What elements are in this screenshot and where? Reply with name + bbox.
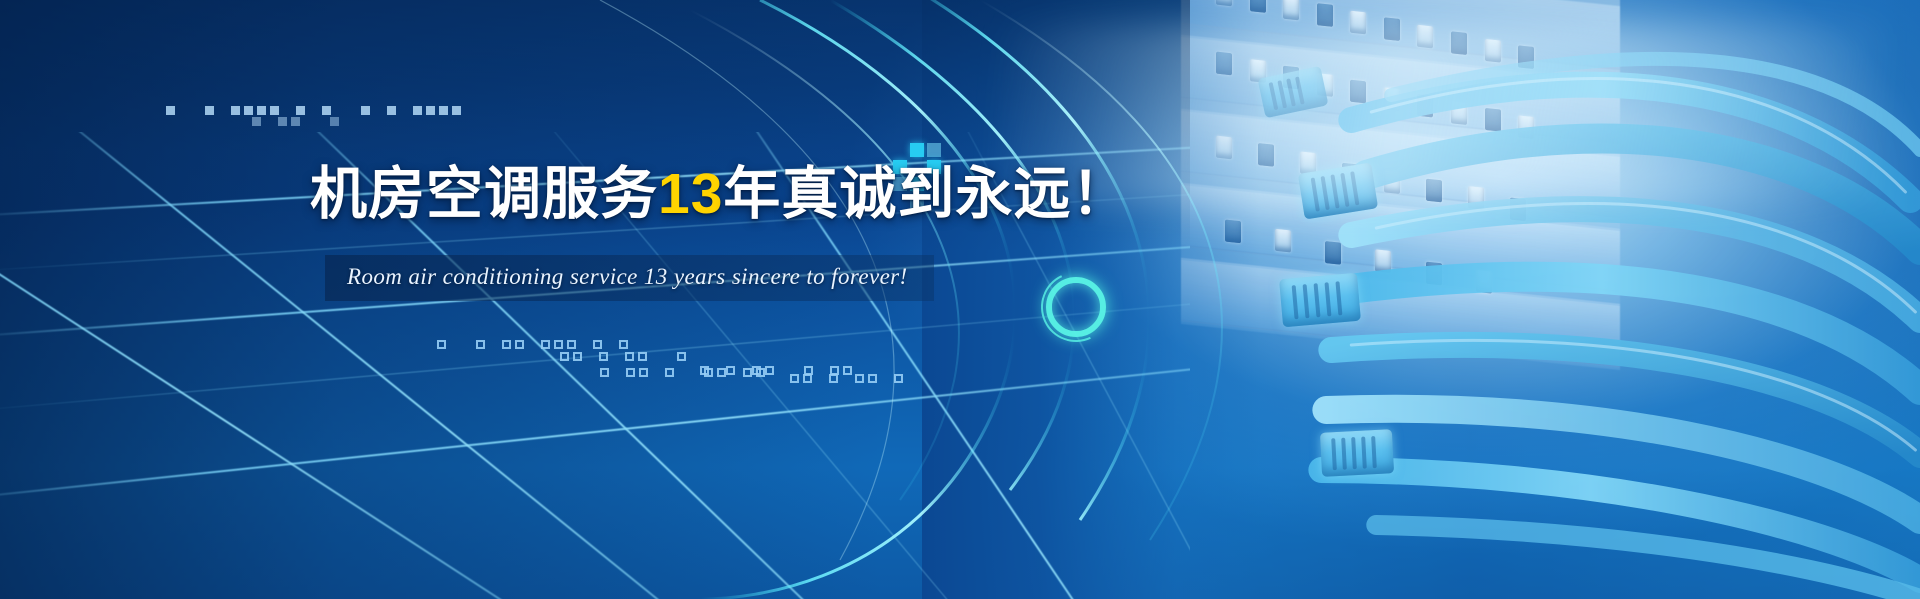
headline-suffix: 年真诚到永远！	[723, 162, 1129, 226]
banner-copy: 机房空调服务13年真诚到永远！ Room air conditioning se…	[0, 0, 1920, 599]
subtitle-bar: Room air conditioning service 13 years s…	[325, 255, 934, 301]
page-title: 机房空调服务13年真诚到永远！	[310, 166, 1129, 223]
headline-prefix: 机房空调服务	[310, 162, 658, 226]
subtitle-text: Room air conditioning service 13 years s…	[347, 264, 908, 290]
headline-accent-number: 13	[658, 162, 723, 226]
hero-banner: 机房空调服务13年真诚到永远！ Room air conditioning se…	[0, 0, 1920, 599]
